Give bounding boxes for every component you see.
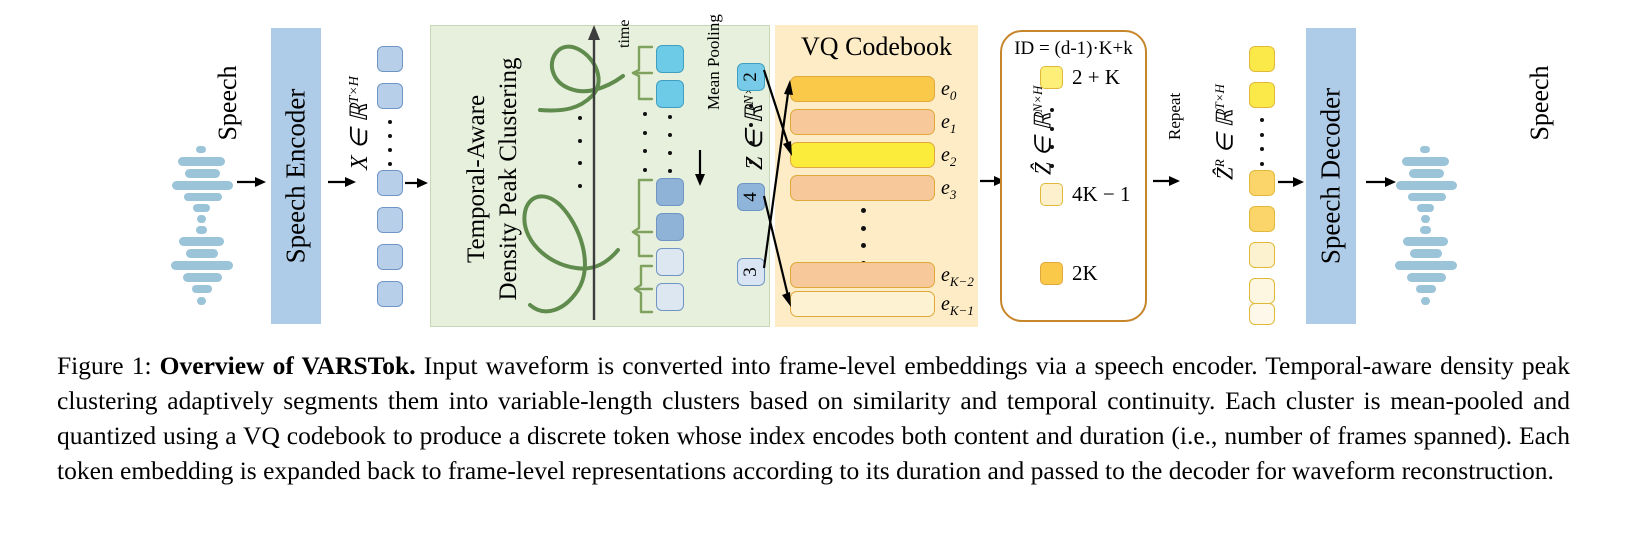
codebook-entry-label: e2 <box>941 144 956 170</box>
speech-encoder-label: Speech Encoder <box>281 89 312 264</box>
output-column-ellipsis <box>1259 118 1265 166</box>
x-embedding-square <box>377 244 403 270</box>
zhatr-in-r: ∈ ℝ <box>1213 109 1238 159</box>
id-item-label: 2K <box>1072 261 1098 286</box>
input-speech-label: Speech <box>168 48 288 88</box>
id-item-label: 4K − 1 <box>1072 182 1131 207</box>
token-value: 2 <box>740 72 762 82</box>
id-formula: ID = (d-1)·K+k <box>1000 38 1147 60</box>
x-embedding-square <box>377 46 403 72</box>
zhatr-superscript: T×H <box>1212 84 1227 109</box>
id-box-ellipsis <box>1049 108 1055 168</box>
token-value: 4 <box>740 192 762 202</box>
cluster-embedding-square <box>656 178 684 206</box>
x-embedding-square <box>377 83 403 109</box>
zhatr-label-text: Ẑ <box>1213 167 1238 180</box>
codebook-entry-label: e3 <box>941 177 956 203</box>
token-value: 3 <box>740 267 762 277</box>
codebook-entry-bar <box>790 142 935 168</box>
codebook-entry-label: e0 <box>941 78 956 104</box>
x-superscript: T×H <box>347 76 362 103</box>
token-square-4: 4 <box>737 183 765 211</box>
zhatr-r-superscript: R <box>1212 159 1227 167</box>
x-embedding-square <box>377 281 403 307</box>
bracket-region-ellipsis <box>642 112 648 172</box>
cluster-embedding-square <box>656 45 684 73</box>
id-item-swatch <box>1040 183 1063 206</box>
codebook-entry-bar <box>790 262 935 288</box>
speech-encoder-block: Speech Encoder <box>271 28 321 324</box>
speech-decoder-block: Speech Decoder <box>1306 28 1356 324</box>
codebook-entry-bar <box>790 175 935 201</box>
cluster-embedding-square <box>656 248 684 276</box>
clustering-title: Temporal-Aware Density Peak Clustering <box>441 25 505 327</box>
figure-number: Figure 1: <box>57 351 152 380</box>
figure-caption: Figure 1: Overview of VARSTok. Input wav… <box>57 348 1570 488</box>
cluster-embedding-square <box>656 213 684 241</box>
codebook-entry-label: eK−1 <box>941 293 974 319</box>
output-embedding-square <box>1249 206 1275 232</box>
codebook-entry-label: eK−2 <box>941 264 974 290</box>
z-label-text: Z ∈ ℝ <box>742 105 768 170</box>
zhat-superscript: N×H <box>1030 86 1045 113</box>
varstok-architecture-diagram: Speech <box>0 0 1625 340</box>
cluster-embedding-square <box>656 283 684 311</box>
token-square-3: 3 <box>737 258 765 286</box>
codebook-entry-bar <box>790 109 935 135</box>
output-embedding-square <box>1249 242 1275 268</box>
cluster-embedding-square <box>656 80 684 108</box>
output-embedding-square <box>1249 278 1275 304</box>
output-embedding-square <box>1249 303 1275 325</box>
output-embedding-square <box>1249 82 1275 108</box>
output-embedding-square <box>1249 170 1275 196</box>
output-embedding-square <box>1249 46 1275 72</box>
output-speech-label: Speech <box>1480 48 1600 88</box>
id-item-swatch <box>1040 262 1063 285</box>
token-column-ellipsis <box>748 104 754 164</box>
curve-region-ellipsis <box>577 116 583 188</box>
figure-container: Speech <box>0 0 1625 559</box>
x-embedding-square <box>377 170 403 196</box>
codebook-entry-bar <box>790 291 935 317</box>
codebook-entry-bar <box>790 76 935 102</box>
cluster-column-ellipsis <box>667 115 673 173</box>
figure-title: Overview of VARSTok. <box>160 351 416 380</box>
x-column-ellipsis <box>387 120 393 166</box>
x-label-text: X ∈ ℝ <box>347 103 373 170</box>
clustering-title-line2: Density Peak Clustering <box>495 39 523 319</box>
codebook-ellipsis <box>860 208 866 266</box>
id-item-label: 2 + K <box>1072 65 1120 90</box>
codebook-entry-label: e1 <box>941 111 956 137</box>
id-item-swatch <box>1040 66 1063 89</box>
speech-decoder-label: Speech Decoder <box>1316 88 1347 264</box>
vq-codebook-title: VQ Codebook <box>775 32 978 62</box>
x-embedding-square <box>377 207 403 233</box>
token-square-2: 2 <box>737 63 765 91</box>
clustering-title-line1: Temporal-Aware <box>463 39 491 319</box>
